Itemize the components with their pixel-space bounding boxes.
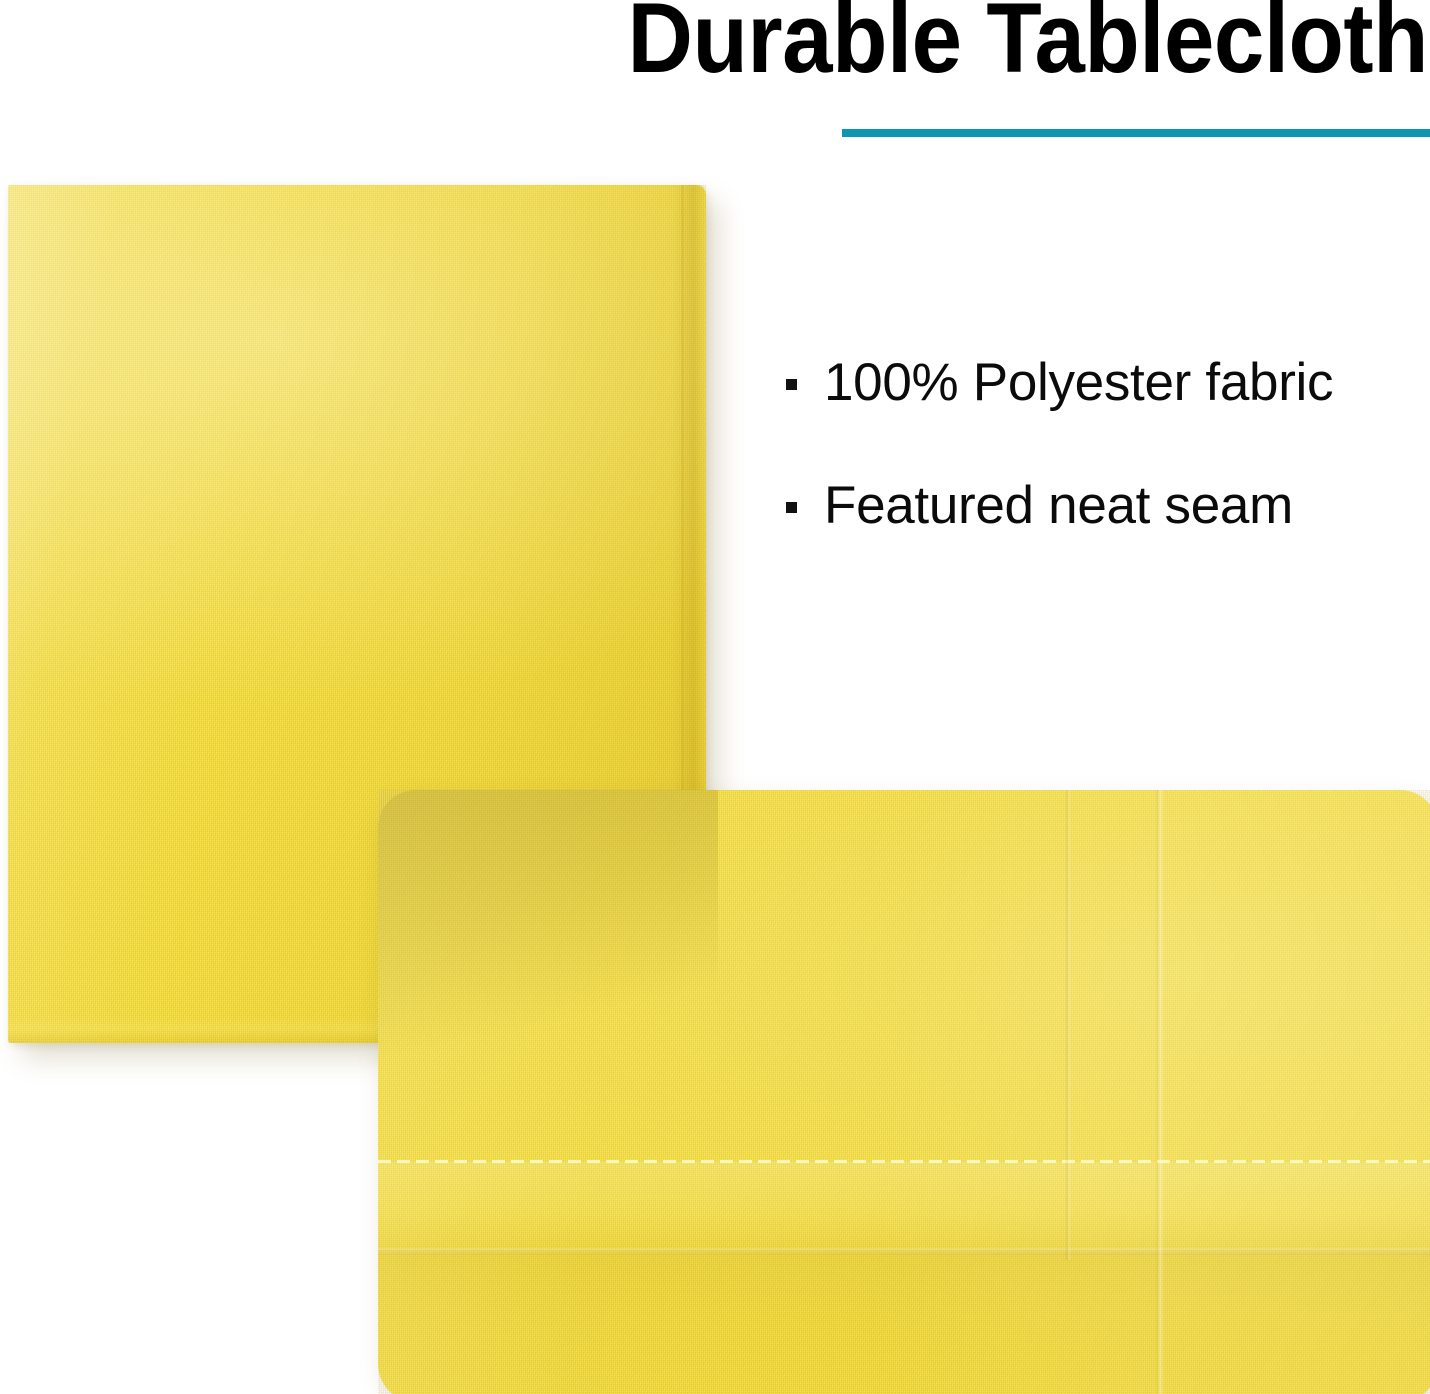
square-bullet-icon xyxy=(786,502,797,513)
feature-list: 100% Polyester fabric Featured neat seam xyxy=(786,352,1426,598)
page-title: Durable Tablecloth xyxy=(121,0,1428,93)
fabric-hem-band xyxy=(378,1162,1430,1252)
tablecloth-hem-image xyxy=(378,790,1430,1394)
product-feature-image: Durable Tablecloth 100% Polyester fabric… xyxy=(0,0,1430,1394)
feature-label: 100% Polyester fabric xyxy=(824,352,1333,413)
fabric-weave-texture xyxy=(378,790,1430,1394)
fabric-cast-shadow xyxy=(378,790,718,1065)
feature-label: Featured neat seam xyxy=(824,475,1293,536)
fabric-stitch-line xyxy=(378,1160,1430,1163)
fabric-vertical-fold-inner xyxy=(1065,790,1071,1260)
fabric-vertical-fold-outer xyxy=(1155,790,1165,1394)
fabric-apron xyxy=(378,1255,1430,1394)
square-bullet-icon xyxy=(786,379,797,390)
list-item: 100% Polyester fabric xyxy=(786,352,1426,413)
list-item: Featured neat seam xyxy=(786,475,1426,536)
title-underline-rule xyxy=(842,129,1430,137)
fabric-shading xyxy=(378,790,1430,1394)
fabric-hem-edge xyxy=(378,1248,1430,1255)
